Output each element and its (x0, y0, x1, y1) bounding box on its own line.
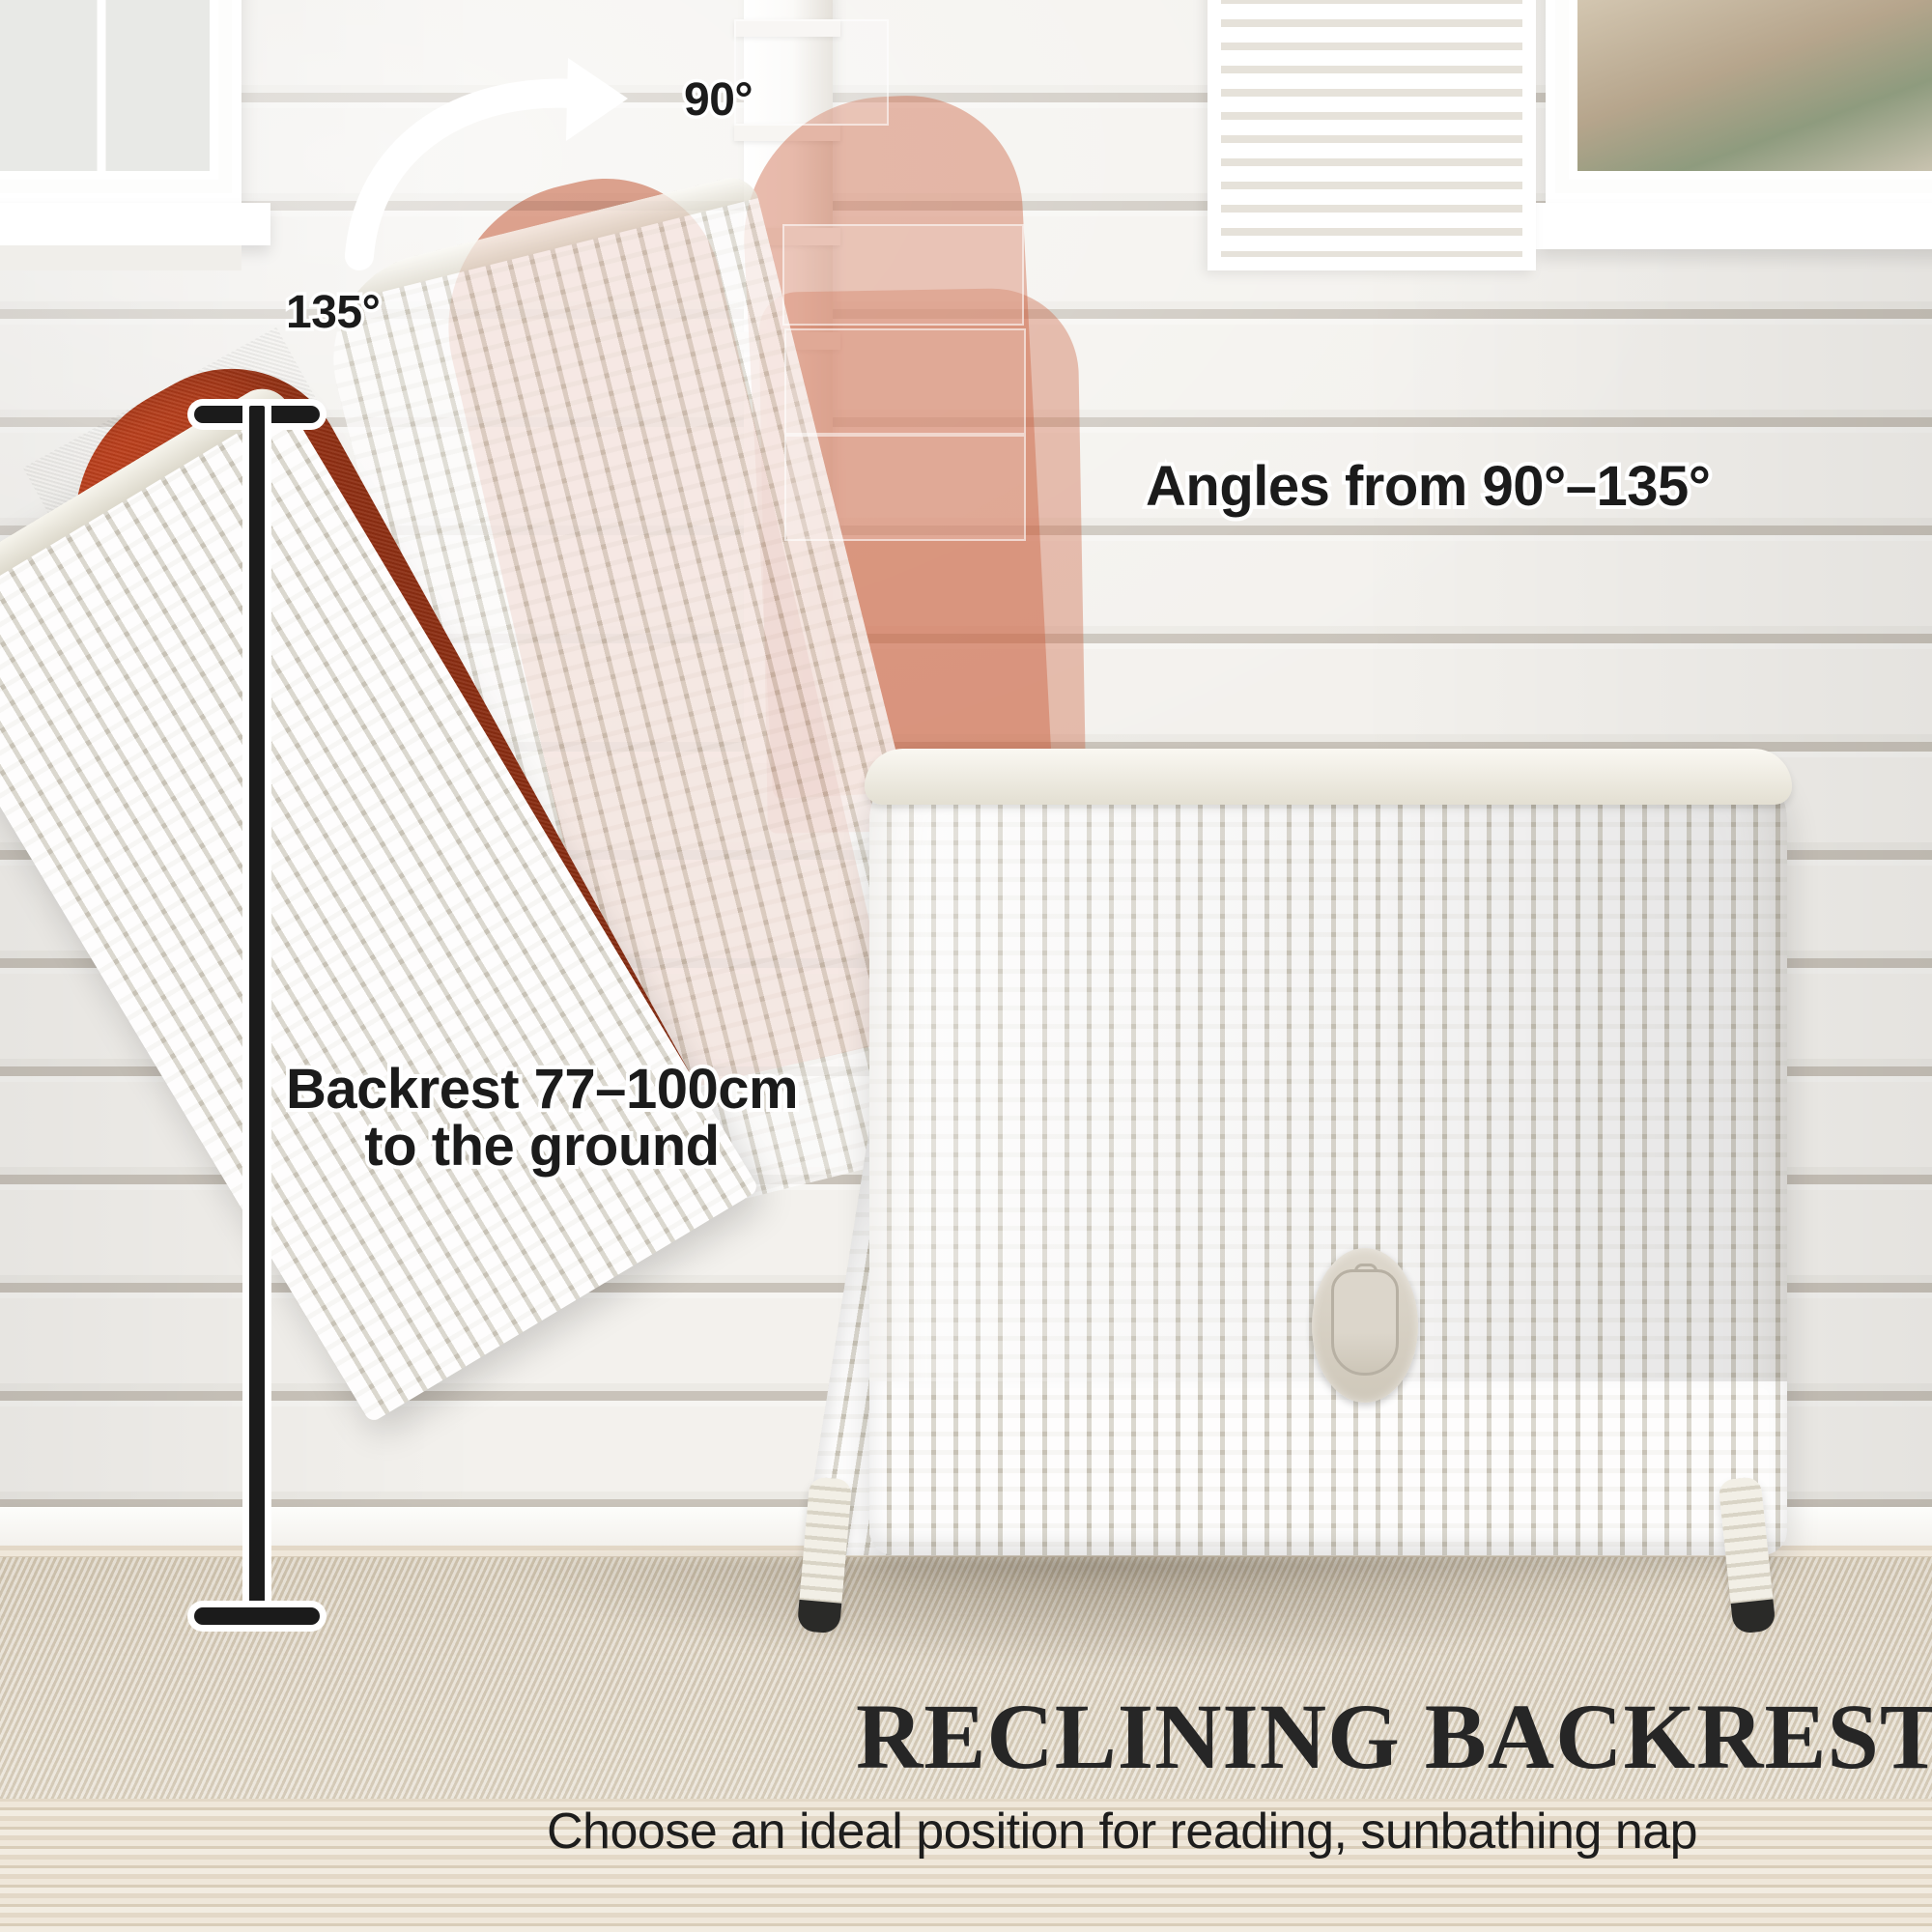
left-window-sill (0, 203, 270, 245)
curved-recline-arrow-icon (338, 48, 744, 270)
chair-lower-skirt (869, 1381, 1787, 1555)
recline-handle-inner-plate (1331, 1269, 1399, 1376)
guide-rect-1 (734, 19, 889, 126)
left-window-sill-lower (0, 245, 241, 270)
recline-arrow-container (338, 48, 744, 270)
right-window-pane (1569, 0, 1932, 180)
dimension-line-vertical (249, 406, 265, 1625)
product-feature-image: 135° 90° Angles from 90°–135° Backrest 7… (0, 0, 1932, 1932)
recline-latch-handle[interactable] (1312, 1248, 1418, 1403)
angle-range-headline: Angles from 90°–135° (1146, 454, 1710, 519)
angle-label-135: 135° (286, 286, 380, 339)
shutter-frame (1207, 0, 1536, 270)
guide-rect-3 (784, 328, 1026, 435)
dimension-label-line1: Backrest 77–100cm (286, 1058, 798, 1121)
right-window-sill (1536, 203, 1932, 249)
window-shutter-louvres (1207, 0, 1536, 270)
left-window-pane (0, 0, 218, 180)
guide-rect-2 (782, 224, 1024, 326)
feature-title: RECLINING BACKREST (856, 1683, 1932, 1790)
guide-rect-4 (784, 435, 1026, 541)
feature-subtitle: Choose an ideal position for reading, su… (547, 1803, 1697, 1861)
right-window (1546, 0, 1932, 203)
left-window (0, 0, 241, 203)
dimension-cap-bottom (194, 1607, 320, 1625)
dimension-label: Backrest 77–100cm to the ground (286, 1061, 798, 1175)
angle-label-90: 90° (684, 73, 753, 127)
chair-armrest-rail (865, 749, 1792, 805)
dimension-label-line2: to the ground (286, 1118, 798, 1175)
